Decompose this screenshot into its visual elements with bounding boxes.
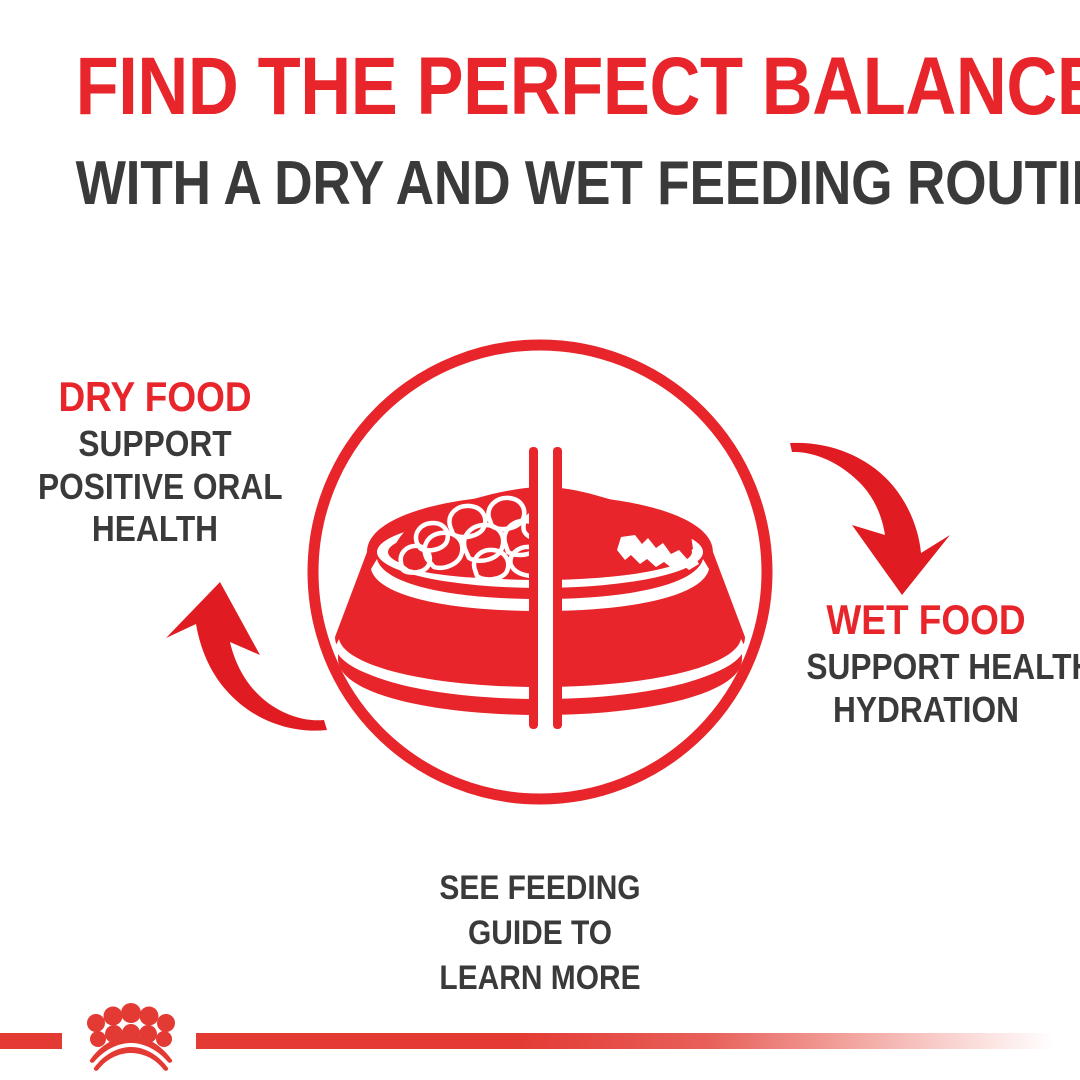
curved-arrow-down-right-icon <box>778 425 963 605</box>
royal-canin-crown-icon <box>76 1002 186 1072</box>
footer-line-2: GUIDE TO <box>65 911 1015 956</box>
wet-food-line-1: SUPPORT HEALTHY <box>806 646 1045 688</box>
wet-food-line-2: HYDRATION <box>806 689 1045 731</box>
dry-food-label-group: DRY FOOD SUPPORT POSITIVE ORAL HEALTH <box>22 375 288 551</box>
bowl-illustration <box>305 337 775 807</box>
brand-bar-left-segment <box>0 1033 62 1049</box>
wet-food-label-group: WET FOOD SUPPORT HEALTHY HYDRATION <box>790 598 1062 731</box>
dry-food-title: DRY FOOD <box>38 375 272 419</box>
divider-bar-left <box>529 447 538 729</box>
curved-arrow-up-left-icon <box>138 572 328 757</box>
dry-food-line-1: SUPPORT <box>38 423 272 465</box>
header-block: FIND THE PERFECT BALANCE WITH A DRY AND … <box>0 48 1080 215</box>
dry-food-line-2: POSITIVE ORAL <box>38 466 272 508</box>
footer-caption-group: SEE FEEDING GUIDE TO LEARN MORE <box>0 866 1080 1002</box>
divider-gap <box>538 447 553 729</box>
brand-bar-right-segment <box>196 1033 1080 1049</box>
wet-food-mound <box>543 487 699 578</box>
poster-root: FIND THE PERFECT BALANCE WITH A DRY AND … <box>0 0 1080 1080</box>
crown-logo-svg <box>76 1002 186 1072</box>
bowl-group <box>335 447 745 729</box>
page-subtitle: WITH A DRY AND WET FEEDING ROUTINE <box>76 153 1005 215</box>
footer-line-1: SEE FEEDING <box>65 866 1015 911</box>
divider-bar-right <box>553 447 562 729</box>
page-title: FIND THE PERFECT BALANCE <box>76 48 1005 127</box>
dry-food-line-3: HEALTH <box>38 508 272 550</box>
split-bowl-svg <box>305 337 775 807</box>
